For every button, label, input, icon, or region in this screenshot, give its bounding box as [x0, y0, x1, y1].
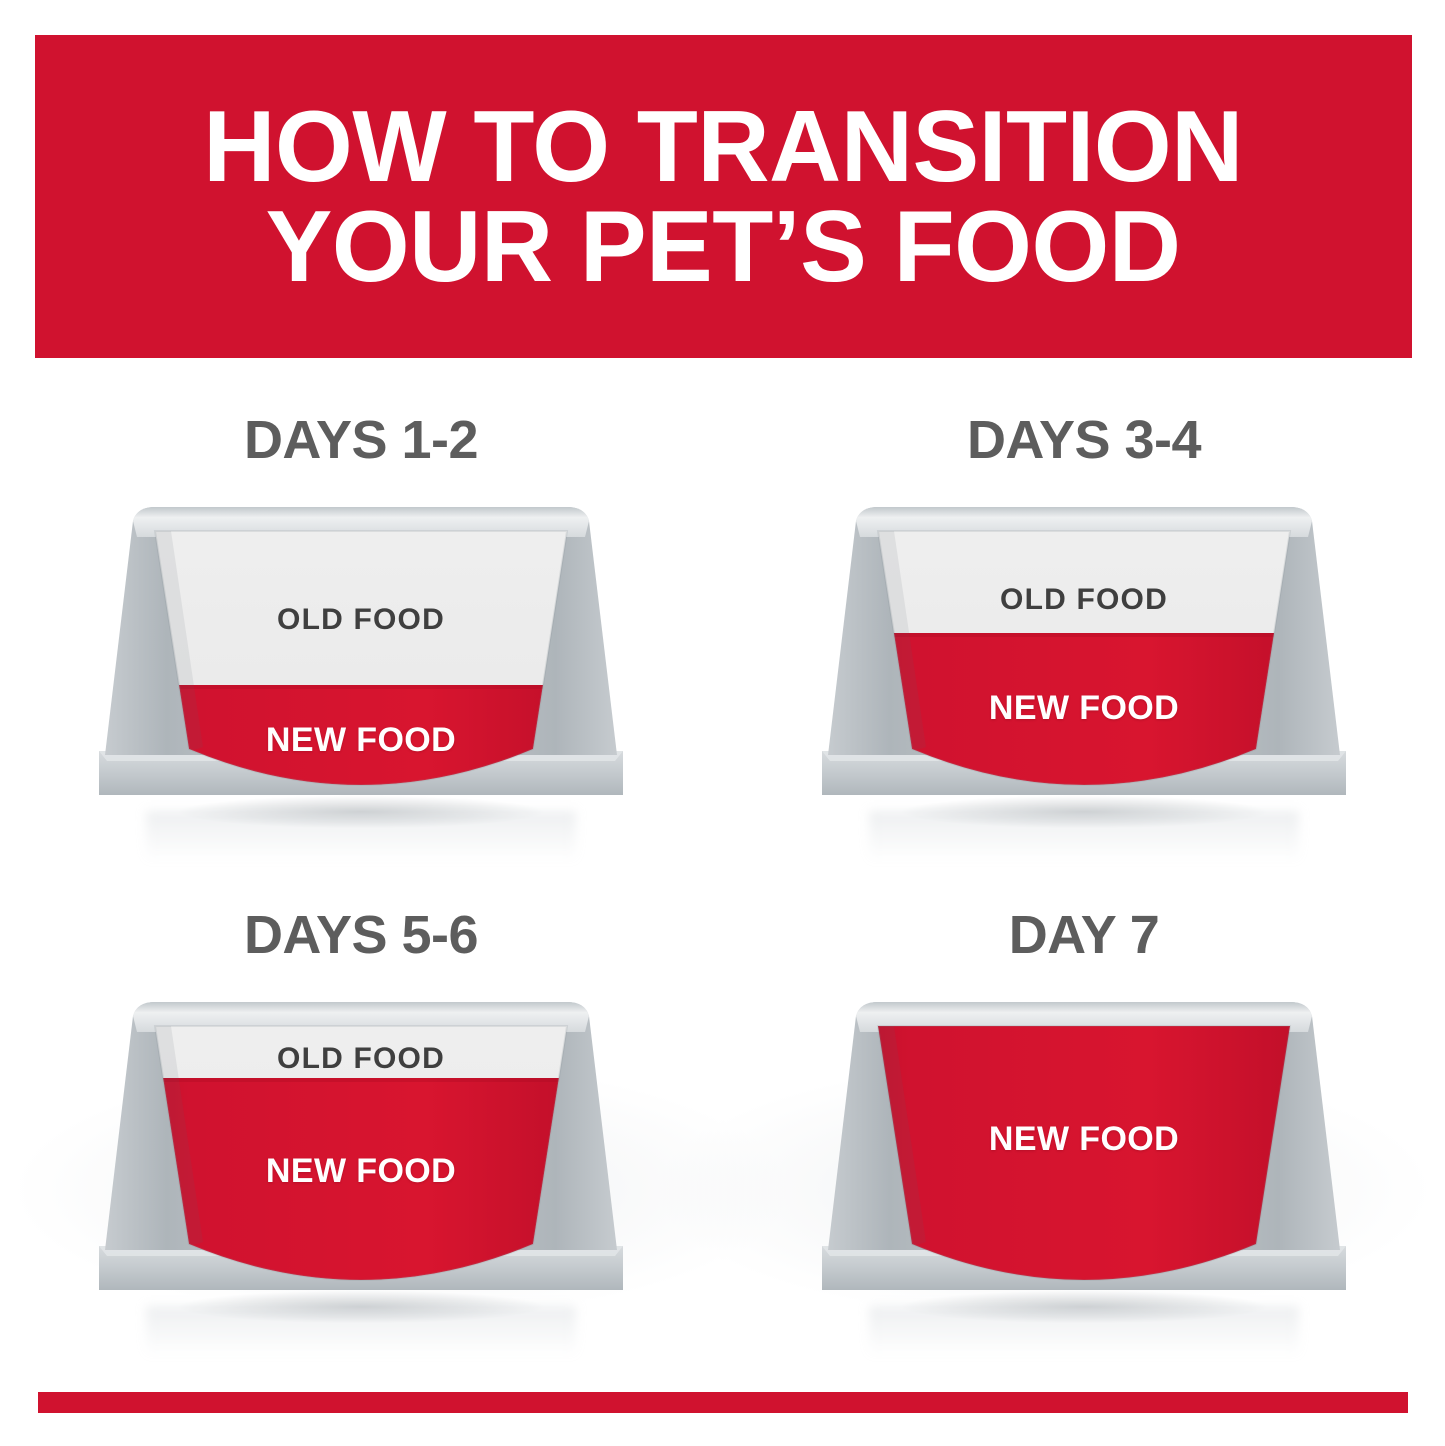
food-bowl-graphic-1 [93, 499, 629, 811]
day-label-1: DAYS 1-2 [0, 409, 722, 471]
food-bowl-1: OLD FOOD NEW FOOD [93, 499, 629, 811]
day-label-4: DAY 7 [723, 904, 1445, 966]
food-bowl-graphic-4 [816, 994, 1352, 1306]
food-bowl-2: OLD FOOD NEW FOOD [816, 499, 1352, 811]
food-bowl-graphic-3 [93, 994, 629, 1306]
food-bowl-4: NEW FOOD [816, 994, 1352, 1306]
transition-step-2: DAYS 3-4 [723, 395, 1445, 890]
transition-steps-grid: DAYS 1-2 [0, 395, 1445, 1385]
transition-step-4: DAY 7 [723, 890, 1445, 1385]
bowl-reflection-2 [869, 811, 1299, 871]
page-title: HOW TO TRANSITION YOUR PET’S FOOD [164, 97, 1283, 297]
bowl-reflection-4 [869, 1306, 1299, 1366]
food-bowl-graphic-2 [816, 499, 1352, 811]
page-title-line-2: YOUR PET’S FOOD [204, 197, 1244, 297]
footer-bar [38, 1392, 1408, 1413]
header-banner: HOW TO TRANSITION YOUR PET’S FOOD [35, 35, 1412, 358]
transition-step-3: DAYS 5-6 [0, 890, 722, 1385]
day-label-2: DAYS 3-4 [723, 409, 1445, 471]
food-bowl-3: OLD FOOD NEW FOOD [93, 994, 629, 1306]
page-title-line-1: HOW TO TRANSITION [204, 91, 1244, 203]
bowl-reflection-3 [146, 1306, 576, 1366]
bowl-reflection-1 [146, 811, 576, 871]
day-label-3: DAYS 5-6 [0, 904, 722, 966]
transition-step-1: DAYS 1-2 [0, 395, 722, 890]
